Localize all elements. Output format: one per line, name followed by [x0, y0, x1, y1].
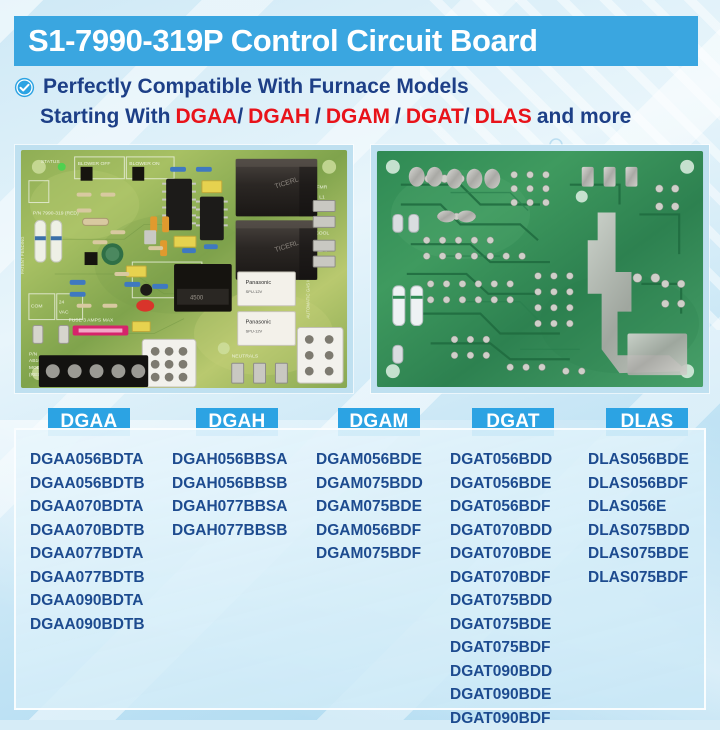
page-title: S1-7990-319P Control Circuit Board: [14, 23, 538, 59]
title-bar: S1-7990-319P Control Circuit Board: [14, 16, 698, 66]
and-more-label: and more: [537, 105, 632, 129]
model-number: DGAA077BDTB: [30, 566, 145, 590]
model-number: DGAA070BDTA: [30, 495, 145, 519]
svg-text:L1: L1: [319, 195, 325, 201]
svg-text:P/N 7990-319 (RED): P/N 7990-319 (RED): [33, 210, 79, 216]
svg-text:4500: 4500: [190, 296, 204, 302]
model-number: DGAT056BDE: [450, 472, 552, 496]
separator-1: /: [237, 105, 243, 129]
svg-text:Panasonic: Panasonic: [246, 320, 272, 326]
model-number: DLAS056BDF: [588, 472, 690, 496]
model-number: DGAA056BDTA: [30, 448, 145, 472]
model-number: DGAT090BDD: [450, 660, 552, 684]
model-number: DGAT075BDD: [450, 589, 552, 613]
model-number: DGAT070BDF: [450, 566, 552, 590]
model-number: DGAM075BDE: [316, 495, 423, 519]
compatibility-text: Perfectly Compatible With Furnace Models: [43, 75, 469, 99]
svg-text:COM: COM: [31, 304, 43, 310]
model-number: DGAT090BDF: [450, 707, 552, 730]
prefix-dgat: DGAT: [406, 105, 464, 129]
model-number: DLAS075BDE: [588, 542, 690, 566]
separator-3: /: [395, 105, 401, 129]
model-number: DLAS075BDD: [588, 519, 690, 543]
model-number: DLAS075BDF: [588, 566, 690, 590]
model-number: DGAM075BDD: [316, 472, 423, 496]
model-column-dgaa: DGAA056BDTADGAA056BDTBDGAA070BDTADGAA070…: [30, 430, 145, 636]
svg-text:P/N: P/N: [29, 351, 38, 357]
prefix-dgaa: DGAA: [175, 105, 237, 129]
compatibility-line-1: Perfectly Compatible With Furnace Models: [14, 72, 714, 102]
separator-2: /: [315, 105, 321, 129]
model-column-dlas: DLAS056BDEDLAS056BDFDLAS056EDLAS075BDDDL…: [588, 430, 690, 589]
model-number: DGAH056BBSA: [172, 448, 287, 472]
svg-text:Panasonic: Panasonic: [246, 280, 272, 286]
model-list-panel: DGAA056BDTADGAA056BDTBDGAA070BDTADGAA070…: [14, 428, 706, 710]
svg-text:BLOWER ON: BLOWER ON: [129, 161, 160, 167]
model-number: DGAM075BDF: [316, 542, 423, 566]
starting-with-label: Starting With: [40, 105, 170, 129]
svg-text:FUSE 3 AMPS MAX: FUSE 3 AMPS MAX: [69, 318, 114, 324]
model-number: DGAA090BDTB: [30, 613, 145, 637]
svg-text:SPU-12V: SPU-12V: [246, 289, 263, 294]
model-column-dgah: DGAH056BBSADGAH056BBSBDGAH077BBSADGAH077…: [172, 430, 287, 542]
svg-text:SPU-12V: SPU-12V: [246, 328, 263, 333]
model-column-dgat: DGAT056BDDDGAT056BDEDGAT056BDFDGAT070BDD…: [450, 430, 552, 730]
svg-text:VAC: VAC: [59, 310, 69, 316]
model-number: DGAA077BDTA: [30, 542, 145, 566]
svg-text:COOL: COOL: [315, 230, 329, 236]
model-number: DGAM056BDF: [316, 519, 423, 543]
svg-text:PATENT PENDING: PATENT PENDING: [20, 236, 25, 274]
svg-text:NEUTRALS: NEUTRALS: [232, 353, 259, 359]
prefix-dgam: DGAM: [326, 105, 390, 129]
model-number: DGAT075BDE: [450, 613, 552, 637]
model-number: DGAT090BDE: [450, 683, 552, 707]
model-number: DGAA056BDTB: [30, 472, 145, 496]
svg-text:BLOWER OFF: BLOWER OFF: [78, 161, 111, 167]
model-number: DGAA070BDTB: [30, 519, 145, 543]
svg-text:24: 24: [59, 300, 65, 306]
prefix-dgah: DGAH: [248, 105, 310, 129]
model-number: DLAS056E: [588, 495, 690, 519]
compatibility-line-2: Starting With DGAA / DGAH / DGAM / DGAT …: [14, 102, 714, 132]
pcb-front-view: STATUS BLOWER OFF BLOWER ON P/N 7990-319…: [14, 144, 354, 394]
model-number: DGAT075BDF: [450, 636, 552, 660]
prefix-dlas: DLAS: [475, 105, 532, 129]
subtitle-block: Perfectly Compatible With Furnace Models…: [14, 72, 714, 132]
model-number: DGAH077BBSB: [172, 519, 287, 543]
svg-text:STATUS: STATUS: [41, 159, 61, 165]
model-number: DGAT056BDF: [450, 495, 552, 519]
model-number: DGAH077BBSA: [172, 495, 287, 519]
model-number: DGAT070BDE: [450, 542, 552, 566]
model-number: DGAT070BDD: [450, 519, 552, 543]
model-number: DLAS056BDE: [588, 448, 690, 472]
model-number: DGAH056BBSB: [172, 472, 287, 496]
model-number: DGAA090BDTA: [30, 589, 145, 613]
pcb-back-view: [370, 144, 710, 394]
model-number: DGAM056BDE: [316, 448, 423, 472]
model-number: DGAT056BDD: [450, 448, 552, 472]
check-circle-icon: [14, 77, 35, 98]
separator-4: /: [464, 105, 470, 129]
model-column-dgam: DGAM056BDEDGAM075BDDDGAM075BDEDGAM056BDF…: [316, 430, 423, 566]
